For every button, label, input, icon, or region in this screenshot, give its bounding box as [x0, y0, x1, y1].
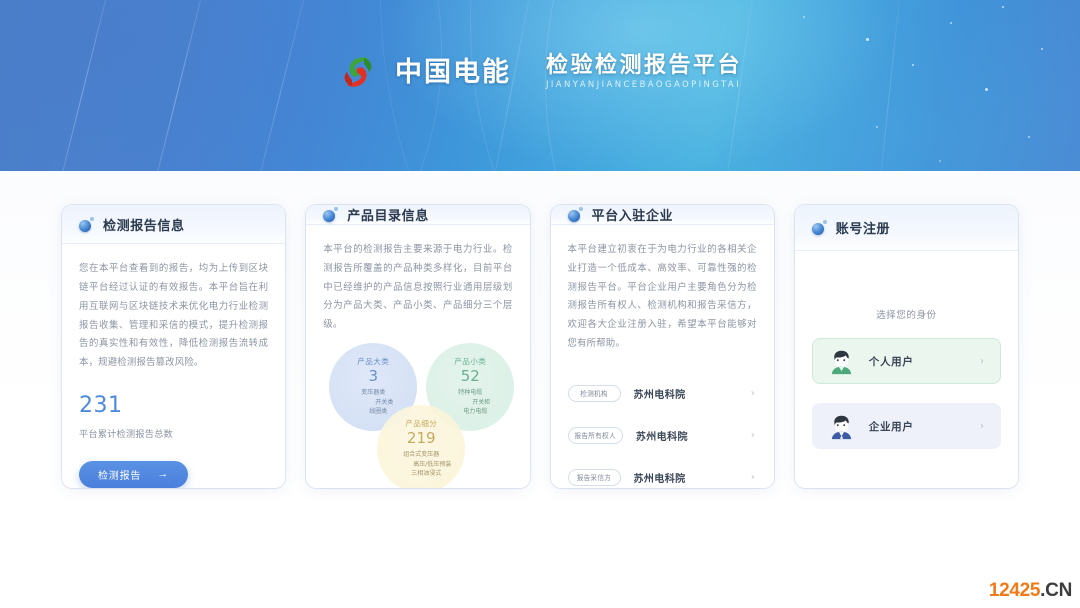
role-option-personal[interactable]: 个人用户 › — [812, 338, 1001, 384]
identity-prompt: 选择您的身份 — [812, 307, 1001, 321]
bubble-value: 52 — [426, 368, 514, 385]
bubble-item: 开关类 — [329, 398, 417, 407]
banner-particle — [876, 126, 878, 128]
banner-particle — [950, 22, 952, 24]
banner-particle — [1028, 136, 1030, 138]
brand-lockup: 中国电能 检验检测报告平台 JIANYANJIANCEBAOGAOPINGTAI — [0, 52, 1080, 92]
watermark-number: 12425 — [989, 580, 1040, 601]
chevron-right-icon: › — [980, 356, 984, 367]
product-hierarchy-venn: 产品大类 3 变压器类 开关类 线圈类 产品小类 52 特种电缆 — [323, 343, 528, 488]
card-detection-report-info: 检测报告信息 您在本平台查看到的报告，均为上传到区块链平台经过认证的有效报告。本… — [62, 205, 285, 488]
enterprise-avatar-icon — [827, 412, 856, 441]
watermark: 12425.CN — [989, 580, 1072, 602]
card-account-register: 账号注册 选择您的身份 个人用户 — [795, 205, 1018, 488]
card-body: 本平台建立初衷在于为电力行业的各相关企业打造一个低成本、高效率、可靠性强的检测报… — [551, 225, 774, 488]
banner-particle — [1002, 6, 1004, 8]
card-platform-enterprises: 平台入驻企业 本平台建立初衷在于为电力行业的各相关企业打造一个低成本、高效率、可… — [551, 205, 774, 488]
cards-row: 检测报告信息 您在本平台查看到的报告，均为上传到区块链平台经过认证的有效报告。本… — [0, 171, 1080, 608]
card-title: 产品目录信息 — [347, 205, 429, 224]
bubble-value: 219 — [377, 430, 465, 447]
card-header: 产品目录信息 — [306, 205, 529, 225]
role-option-label: 企业用户 — [869, 419, 980, 434]
platform-title-pinyin: JIANYANJIANCEBAOGAOPINGTAI — [546, 81, 742, 90]
brand-divider — [528, 57, 529, 87]
banner-particle — [866, 38, 869, 41]
bubble-item: 变压器类 — [329, 388, 417, 397]
card-body: 选择您的身份 个人用户 › — [795, 251, 1018, 488]
bubble-label: 产品大类 — [329, 356, 417, 367]
report-total-label: 平台累计检测报告总数 — [79, 426, 268, 440]
page-root: 中国电能 检验检测报告平台 JIANYANJIANCEBAOGAOPINGTAI… — [0, 0, 1080, 608]
card-title: 账号注册 — [836, 218, 890, 237]
role-option-enterprise[interactable]: 企业用户 › — [812, 403, 1001, 449]
bubble-label: 产品小类 — [426, 356, 514, 367]
personal-avatar-icon — [827, 347, 856, 376]
bubble-label: 产品细分 — [377, 418, 465, 429]
brand-name-cn: 中国电能 — [395, 59, 511, 86]
venn-bubble-subdivision[interactable]: 产品细分 219 组合式变压器 高压/低压预装 三相油浸式 — [377, 405, 465, 488]
bubble-item: 高压/低压预装 — [377, 460, 465, 469]
enterprise-name: 苏州电科院 — [634, 470, 751, 485]
bubble-item: 开关柜 — [426, 398, 514, 407]
card-header: 检测报告信息 — [62, 205, 285, 244]
list-item[interactable]: 报告采信方 苏州电科院 › — [568, 465, 757, 488]
enterprise-name: 苏州电科院 — [636, 428, 751, 443]
blue-orb-icon — [568, 207, 583, 222]
card-title: 平台入驻企业 — [592, 205, 674, 224]
bubble-item: 特种电缆 — [426, 388, 514, 397]
role-tag: 报告所有权人 — [568, 427, 623, 444]
blue-orb-icon — [812, 220, 827, 235]
banner-particle — [1041, 48, 1043, 50]
card-header: 平台入驻企业 — [551, 205, 774, 225]
brand-title-block: 检验检测报告平台 JIANYANJIANCEBAOGAOPINGTAI — [546, 54, 742, 90]
chevron-right-icon: › — [751, 388, 755, 399]
bubble-item: 三相油浸式 — [377, 469, 465, 478]
card-description: 本平台建立初衷在于为电力行业的各相关企业打造一个低成本、高效率、可靠性强的检测报… — [568, 241, 757, 354]
card-description: 本平台的检测报告主要来源于电力行业。检测报告所覆盖的产品种类多样化，目前平台中已… — [323, 241, 512, 335]
role-option-label: 个人用户 — [869, 354, 980, 369]
detection-report-button-label: 检测报告 — [98, 467, 141, 482]
swirl-logo-icon — [338, 52, 378, 92]
blue-orb-icon — [79, 217, 94, 232]
chevron-right-icon: › — [751, 472, 755, 483]
detection-report-button[interactable]: 检测报告 → — [79, 461, 188, 488]
card-body: 本平台的检测报告主要来源于电力行业。检测报告所覆盖的产品种类多样化，目前平台中已… — [306, 225, 529, 488]
banner-particle — [939, 160, 941, 162]
card-title: 检测报告信息 — [103, 215, 185, 234]
enterprise-list: 检测机构 苏州电科院 › 报告所有权人 苏州电科院 › 报告采信方 苏州电科院 … — [568, 381, 757, 488]
watermark-tld: .CN — [1040, 580, 1072, 601]
chevron-right-icon: › — [751, 430, 755, 441]
banner-particle — [803, 16, 805, 18]
list-item[interactable]: 报告所有权人 苏州电科院 › — [568, 423, 757, 448]
chevron-right-icon: › — [980, 421, 984, 432]
site-banner: 中国电能 检验检测报告平台 JIANYANJIANCEBAOGAOPINGTAI — [0, 0, 1080, 171]
card-body: 您在本平台查看到的报告，均为上传到区块链平台经过认证的有效报告。本平台旨在利用互… — [62, 244, 285, 488]
card-header: 账号注册 — [795, 205, 1018, 251]
card-description: 您在本平台查看到的报告，均为上传到区块链平台经过认证的有效报告。本平台旨在利用互… — [79, 260, 268, 373]
bubble-items: 组合式变压器 高压/低压预装 三相油浸式 — [377, 450, 465, 478]
list-item[interactable]: 检测机构 苏州电科院 › — [568, 381, 757, 406]
enterprise-name: 苏州电科院 — [634, 386, 751, 401]
card-product-catalog-info: 产品目录信息 本平台的检测报告主要来源于电力行业。检测报告所覆盖的产品种类多样化… — [306, 205, 529, 488]
role-tag: 报告采信方 — [568, 469, 621, 486]
bubble-value: 3 — [329, 368, 417, 385]
bubble-item: 组合式变压器 — [377, 450, 465, 459]
role-tag: 检测机构 — [568, 385, 621, 402]
blue-orb-icon — [323, 207, 338, 222]
arrow-right-icon: → — [157, 469, 169, 480]
platform-title: 检验检测报告平台 — [546, 54, 742, 78]
report-total-value: 231 — [79, 395, 268, 417]
